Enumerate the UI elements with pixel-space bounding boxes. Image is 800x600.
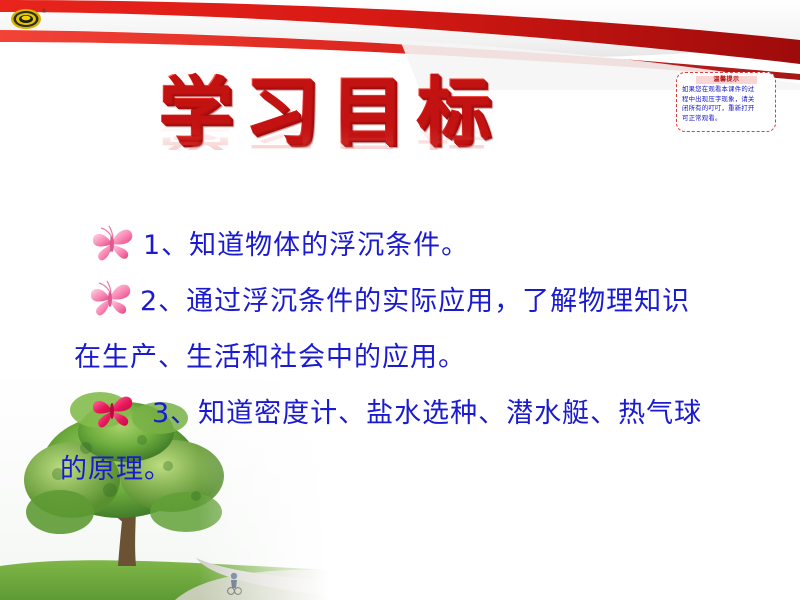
butterfly-red-icon: [88, 390, 134, 432]
objective-item-3-cont: 的原理。: [0, 442, 800, 498]
objective-item-3: 3、知道密度计、盐水选种、潜水艇、热气球: [0, 386, 800, 442]
svg-text:®: ®: [41, 8, 47, 15]
notice-line-3: 闭所有的叮叮，重新打开: [682, 104, 771, 114]
objective-text-3a: 3、知道密度计、盐水选种、潜水艇、热气球: [152, 398, 702, 429]
objective-item-2: 2、通过浮沉条件的实际应用，了解物理知识: [0, 274, 800, 330]
slide-title-block: 学习目标 学习目标: [0, 74, 660, 224]
butterfly-pink-icon: [88, 223, 134, 265]
butterfly-pink-icon: [86, 278, 132, 320]
notice-line-2: 程中出现压字现象，请关: [682, 95, 771, 105]
notice-line-1: 如果您在观看本课件的过: [682, 85, 771, 95]
objectives-list: 1、知道物体的浮沉条件。: [0, 218, 800, 498]
cyclist: [228, 573, 242, 595]
objective-text-3b: 的原理。: [60, 454, 172, 485]
notice-line-4: 可正常观看。: [682, 114, 771, 124]
page-title-reflection: 学习目标: [158, 117, 502, 150]
notice-box: 温馨提示 如果您在观看本课件的过 程中出现压字现象，请关 闭所有的叮叮，重新打开…: [676, 72, 776, 132]
notice-title: 温馨提示: [696, 76, 757, 84]
objective-item-2-cont: 在生产、生活和社会中的应用。: [0, 330, 800, 386]
objective-text-2a: 2、通过浮沉条件的实际应用，了解物理知识: [140, 286, 690, 317]
objective-text-2b: 在生产、生活和社会中的应用。: [74, 342, 466, 373]
objective-item-1: 1、知道物体的浮沉条件。: [0, 218, 800, 274]
slide-canvas: ® 温馨提示 如果您在观看本课件的过 程中出现压字现象，请关 闭所有的叮叮，重新…: [0, 0, 800, 600]
courseware-logo: ®: [8, 6, 48, 34]
objective-text-1: 1、知道物体的浮沉条件。: [143, 230, 469, 261]
